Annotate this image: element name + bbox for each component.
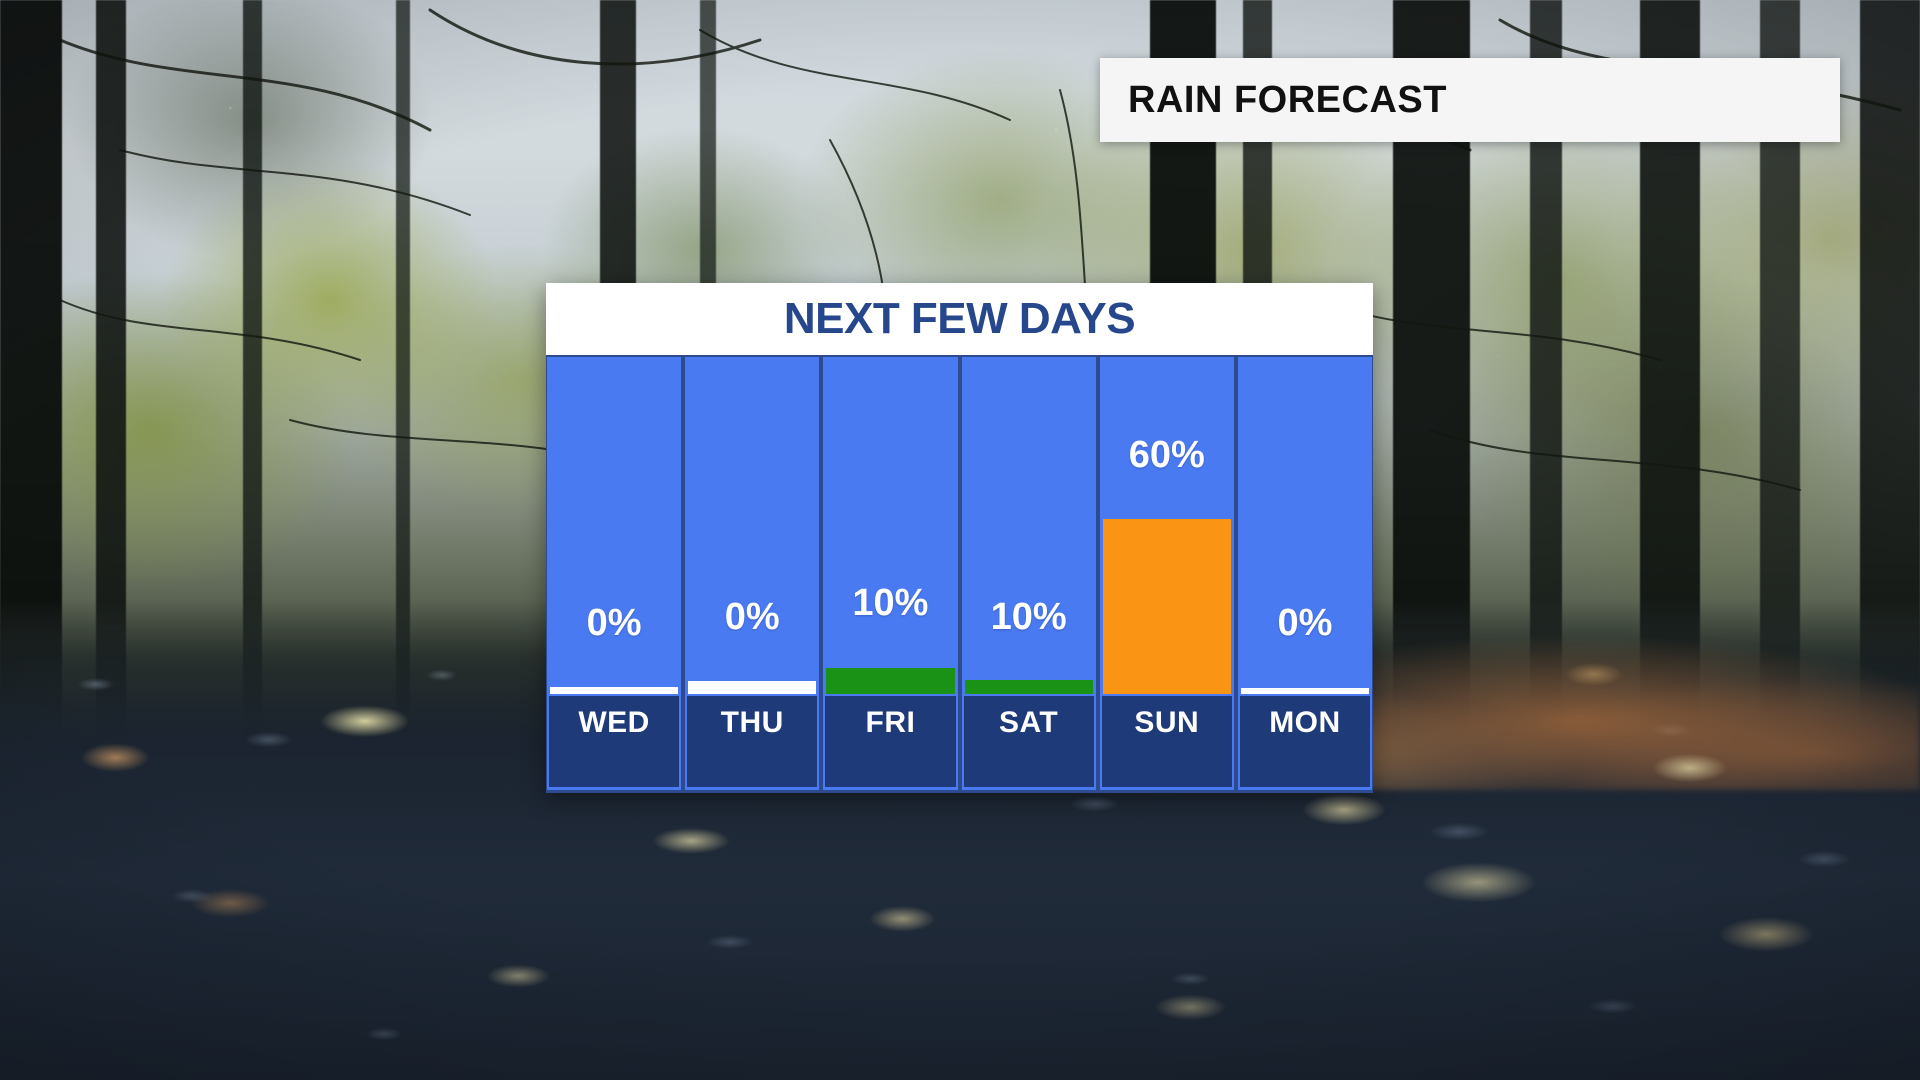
rain-chance-bar-fri xyxy=(826,668,954,694)
forecast-plot-sat: 10% xyxy=(962,357,1096,694)
day-label-sat: SAT xyxy=(999,706,1058,740)
forecast-column-sat[interactable]: 10% SAT xyxy=(962,357,1096,790)
rain-chance-bar-sun xyxy=(1103,519,1231,694)
forecast-plot-mon: 0% xyxy=(1238,357,1372,694)
rain-chance-value-thu: 0% xyxy=(685,598,819,636)
forecast-column-sun[interactable]: 60% SUN xyxy=(1100,357,1234,790)
forecast-plot-sun: 60% xyxy=(1100,357,1234,694)
day-label-cell-sun: SUN xyxy=(1100,694,1234,790)
day-label-cell-wed: WED xyxy=(547,694,681,790)
day-label-mon: MON xyxy=(1269,706,1341,740)
rain-chance-bar-wed xyxy=(550,687,678,694)
forecast-panel: NEXT FEW DAYS 0% WED 0% THU xyxy=(546,283,1373,793)
rain-chance-value-mon: 0% xyxy=(1238,604,1372,642)
rain-chance-value-wed: 0% xyxy=(547,604,681,642)
rain-chance-bar-thu xyxy=(688,681,816,694)
day-label-sun: SUN xyxy=(1134,706,1199,740)
day-label-fri: FRI xyxy=(866,706,916,740)
day-label-cell-thu: THU xyxy=(685,694,819,790)
weather-graphic-stage: RAIN FORECAST NEXT FEW DAYS 0% WED 0% xyxy=(0,0,1920,1080)
rain-forecast-banner-title: RAIN FORECAST xyxy=(1100,79,1447,122)
day-label-wed: WED xyxy=(578,706,650,740)
rain-forecast-banner: RAIN FORECAST xyxy=(1100,58,1840,142)
forecast-plot-thu: 0% xyxy=(685,357,819,694)
day-label-cell-mon: MON xyxy=(1238,694,1372,790)
forecast-plot-wed: 0% xyxy=(547,357,681,694)
forecast-column-wed[interactable]: 0% WED xyxy=(547,357,681,790)
rain-chance-value-sat: 10% xyxy=(962,598,1096,636)
forecast-column-thu[interactable]: 0% THU xyxy=(685,357,819,790)
forecast-column-fri[interactable]: 10% FRI xyxy=(823,357,957,790)
forecast-plot-fri: 10% xyxy=(823,357,957,694)
rain-chance-value-sun: 60% xyxy=(1100,436,1234,474)
forecast-columns: 0% WED 0% THU 10% xyxy=(546,357,1373,793)
forecast-panel-title: NEXT FEW DAYS xyxy=(784,294,1135,344)
forecast-column-mon[interactable]: 0% MON xyxy=(1238,357,1372,790)
day-label-thu: THU xyxy=(721,706,784,740)
day-label-cell-fri: FRI xyxy=(823,694,957,790)
rain-chance-value-fri: 10% xyxy=(823,584,957,622)
forecast-panel-titlebar: NEXT FEW DAYS xyxy=(546,283,1373,355)
day-label-cell-sat: SAT xyxy=(962,694,1096,790)
rain-chance-bar-sat xyxy=(965,680,1093,694)
rain-chance-bar-mon xyxy=(1241,688,1369,694)
